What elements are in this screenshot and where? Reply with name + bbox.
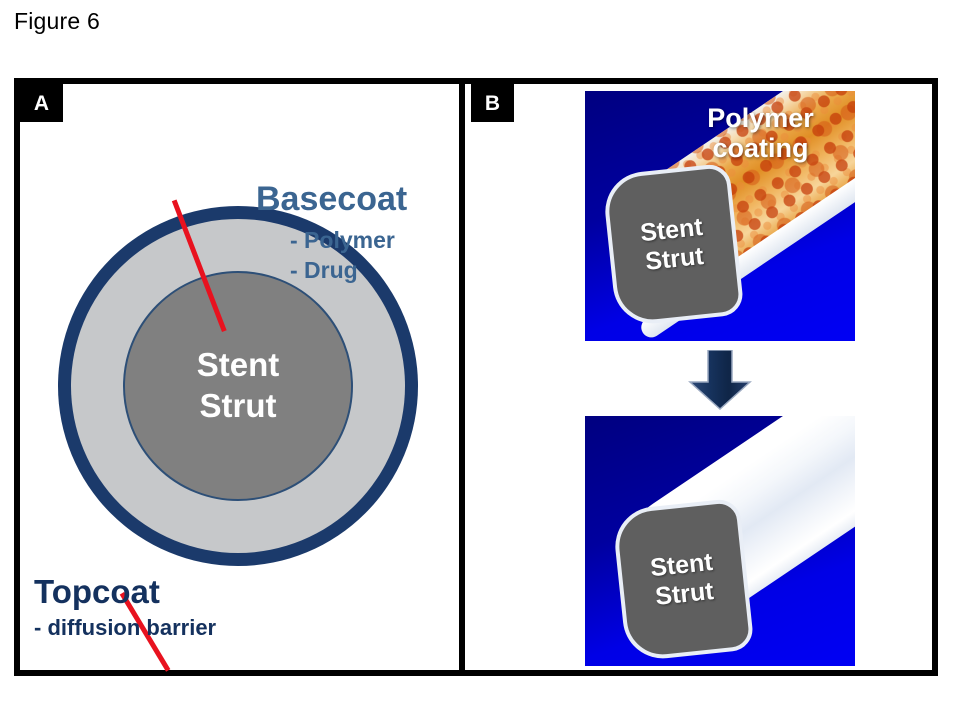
stent-strut-label-line1: Stent <box>197 346 280 385</box>
panel-a: Stent Strut Basecoat - Polymer - Drug To… <box>20 84 459 670</box>
down-arrow-icon <box>683 350 757 410</box>
basecoat-bullet-polymer: - Polymer <box>290 226 472 256</box>
polymer-coating-caption-line2: coating <box>673 133 848 163</box>
topcoat-bullet-diffusion-barrier: - diffusion barrier <box>34 614 334 643</box>
coated-strut-end-face: Stent Strut <box>601 163 744 328</box>
topcoated-strut-end-face: Stent Strut <box>611 498 754 663</box>
panel-label-a: A <box>20 84 63 122</box>
basecoat-label-group: Basecoat - Polymer - Drug <box>256 181 472 286</box>
coated-face-label-line2: Strut <box>644 242 705 277</box>
basecoat-bullet-drug: - Drug <box>290 256 472 286</box>
topcoat-heading: Topcoat <box>34 574 334 610</box>
basecoat-bullet-list: - Polymer - Drug <box>256 226 472 286</box>
polymer-coating-caption-line1: Polymer <box>673 103 848 133</box>
stent-strut-label-line2: Strut <box>200 387 277 426</box>
coated-strut-illustration: Stent Strut Polymer coating <box>585 91 855 341</box>
stent-strut-core: Stent Strut <box>123 271 353 501</box>
topcoat-label-group: Topcoat - diffusion barrier <box>34 574 334 643</box>
basecoat-heading: Basecoat <box>256 181 472 218</box>
polymer-coating-caption: Polymer coating <box>673 103 848 163</box>
panel-label-b: B <box>471 84 514 122</box>
panel-b: Stent Strut Polymer coating Stent <box>465 84 938 670</box>
topcoat-bullet-list: - diffusion barrier <box>34 614 334 643</box>
topcoated-strut-illustration: Stent Strut <box>585 416 855 666</box>
topcoated-face-label-line2: Strut <box>654 577 715 612</box>
figure-caption: Figure 6 <box>14 8 100 35</box>
